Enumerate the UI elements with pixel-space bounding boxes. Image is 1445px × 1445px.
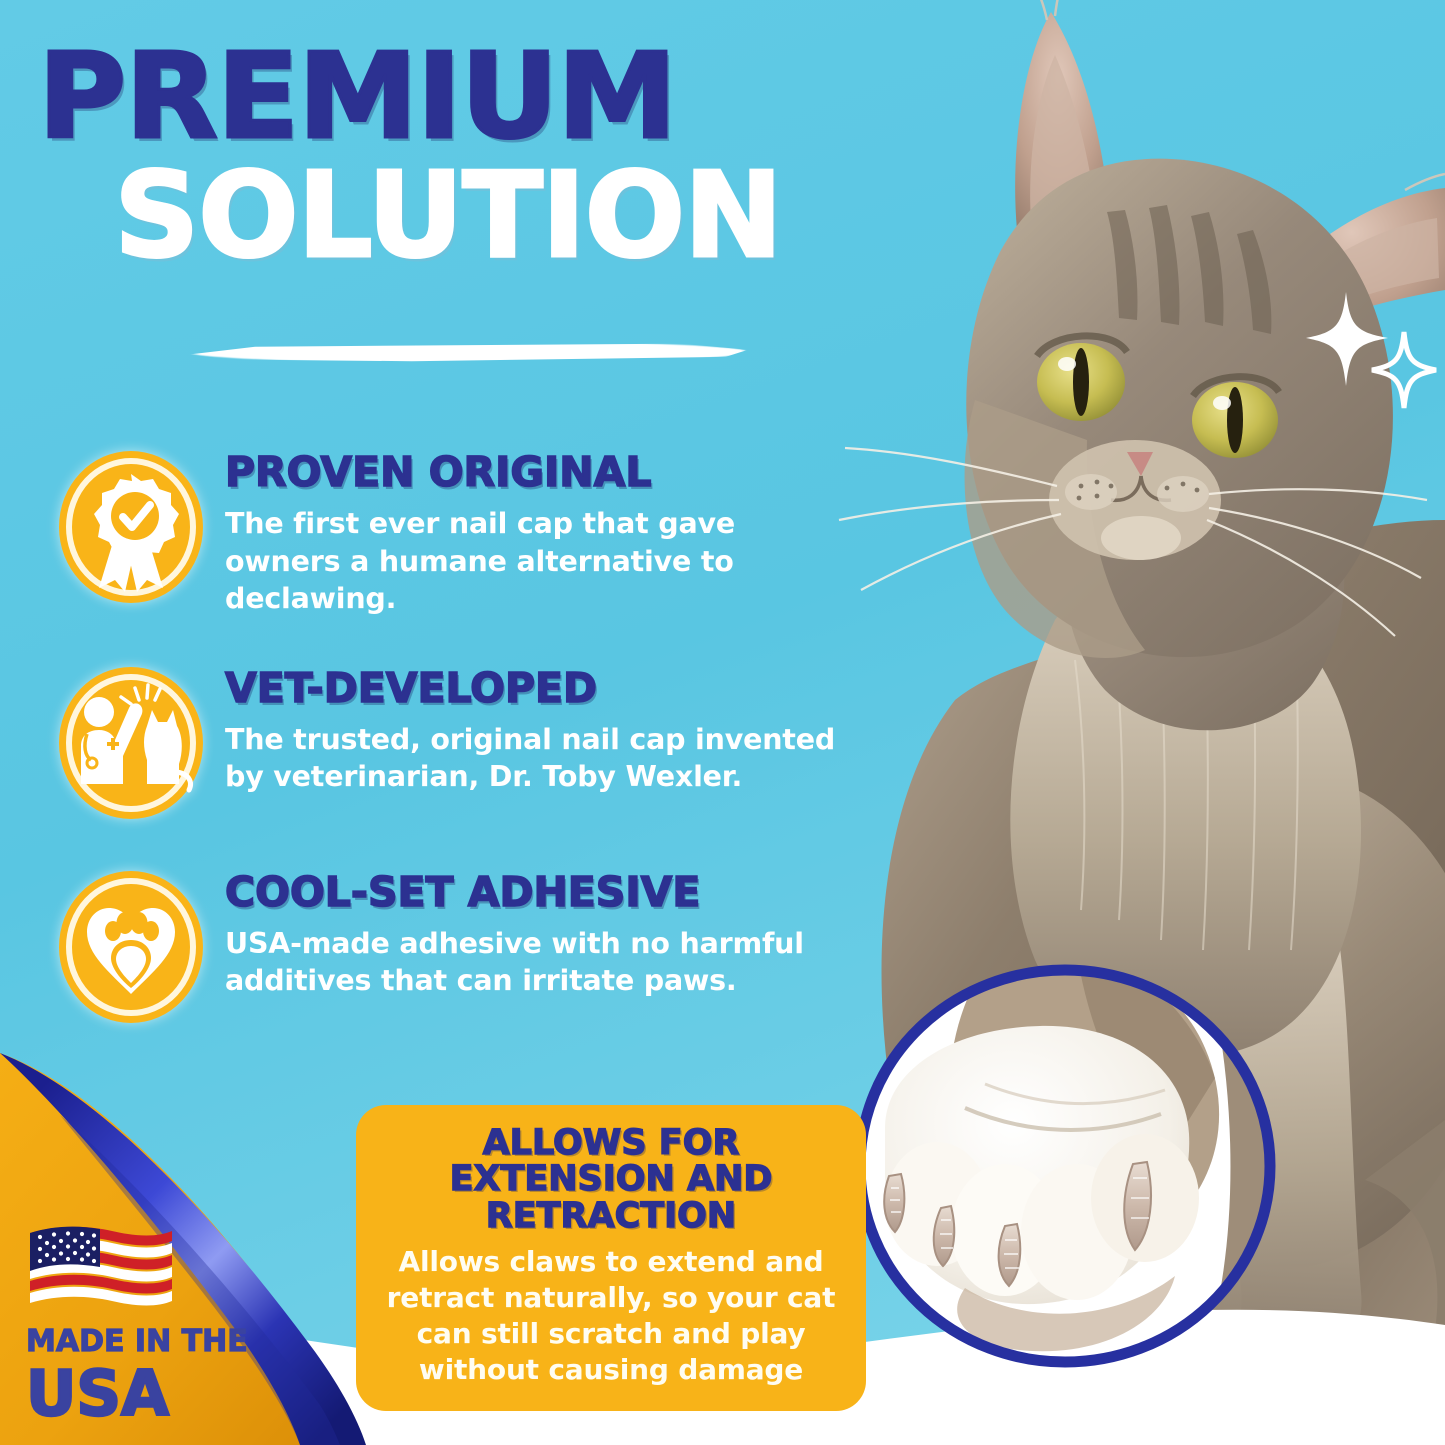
feature-body: The first ever nail cap that gave owners… [225,505,845,618]
made-in-usa-badge: MADE IN THE USA [26,1225,266,1425]
feature-title: VET-DEVELOPED [225,668,845,709]
feature-text-block: VET-DEVELOPED The trusted, original nail… [225,664,845,796]
heart-paw-icon [55,868,207,1026]
feature-item-vet-developed: VET-DEVELOPED The trusted, original nail… [55,664,845,822]
vet-highfive-cat-icon [55,664,207,822]
sparkle-group [1300,288,1440,413]
made-in-the-label: MADE IN THE [26,1327,266,1357]
feature-title: COOL-SET ADHESIVE [225,872,845,913]
feature-body: USA-made adhesive with no harmful additi… [225,925,845,1000]
feature-item-proven-original: PROVEN ORIGINAL The first ever nail cap … [55,448,845,618]
feature-title: PROVEN ORIGINAL [225,452,845,493]
headline-block: PREMIUM SOLUTION [38,42,858,271]
headline-premium: PREMIUM [38,42,874,151]
feature-text-block: PROVEN ORIGINAL The first ever nail cap … [225,448,845,618]
headline-solution: SOLUTION [38,159,858,271]
feature-item-cool-set-adhesive: COOL-SET ADHESIVE USA-made adhesive with… [55,868,845,1026]
feature-text-block: COOL-SET ADHESIVE USA-made adhesive with… [225,868,845,1000]
usa-flag-icon [26,1225,176,1309]
product-infographic: PREMIUM SOLUTION PROVEN OR [0,0,1445,1445]
cat-paw-with-nail-caps-photo [845,958,1285,1378]
award-ribbon-icon [55,448,207,606]
feature-body: The trusted, original nail cap invented … [225,721,845,796]
feature-list: PROVEN ORIGINAL The first ever nail cap … [55,448,845,1072]
usa-label: USA [26,1363,266,1425]
sparkle-star-outline-icon [1372,332,1436,408]
